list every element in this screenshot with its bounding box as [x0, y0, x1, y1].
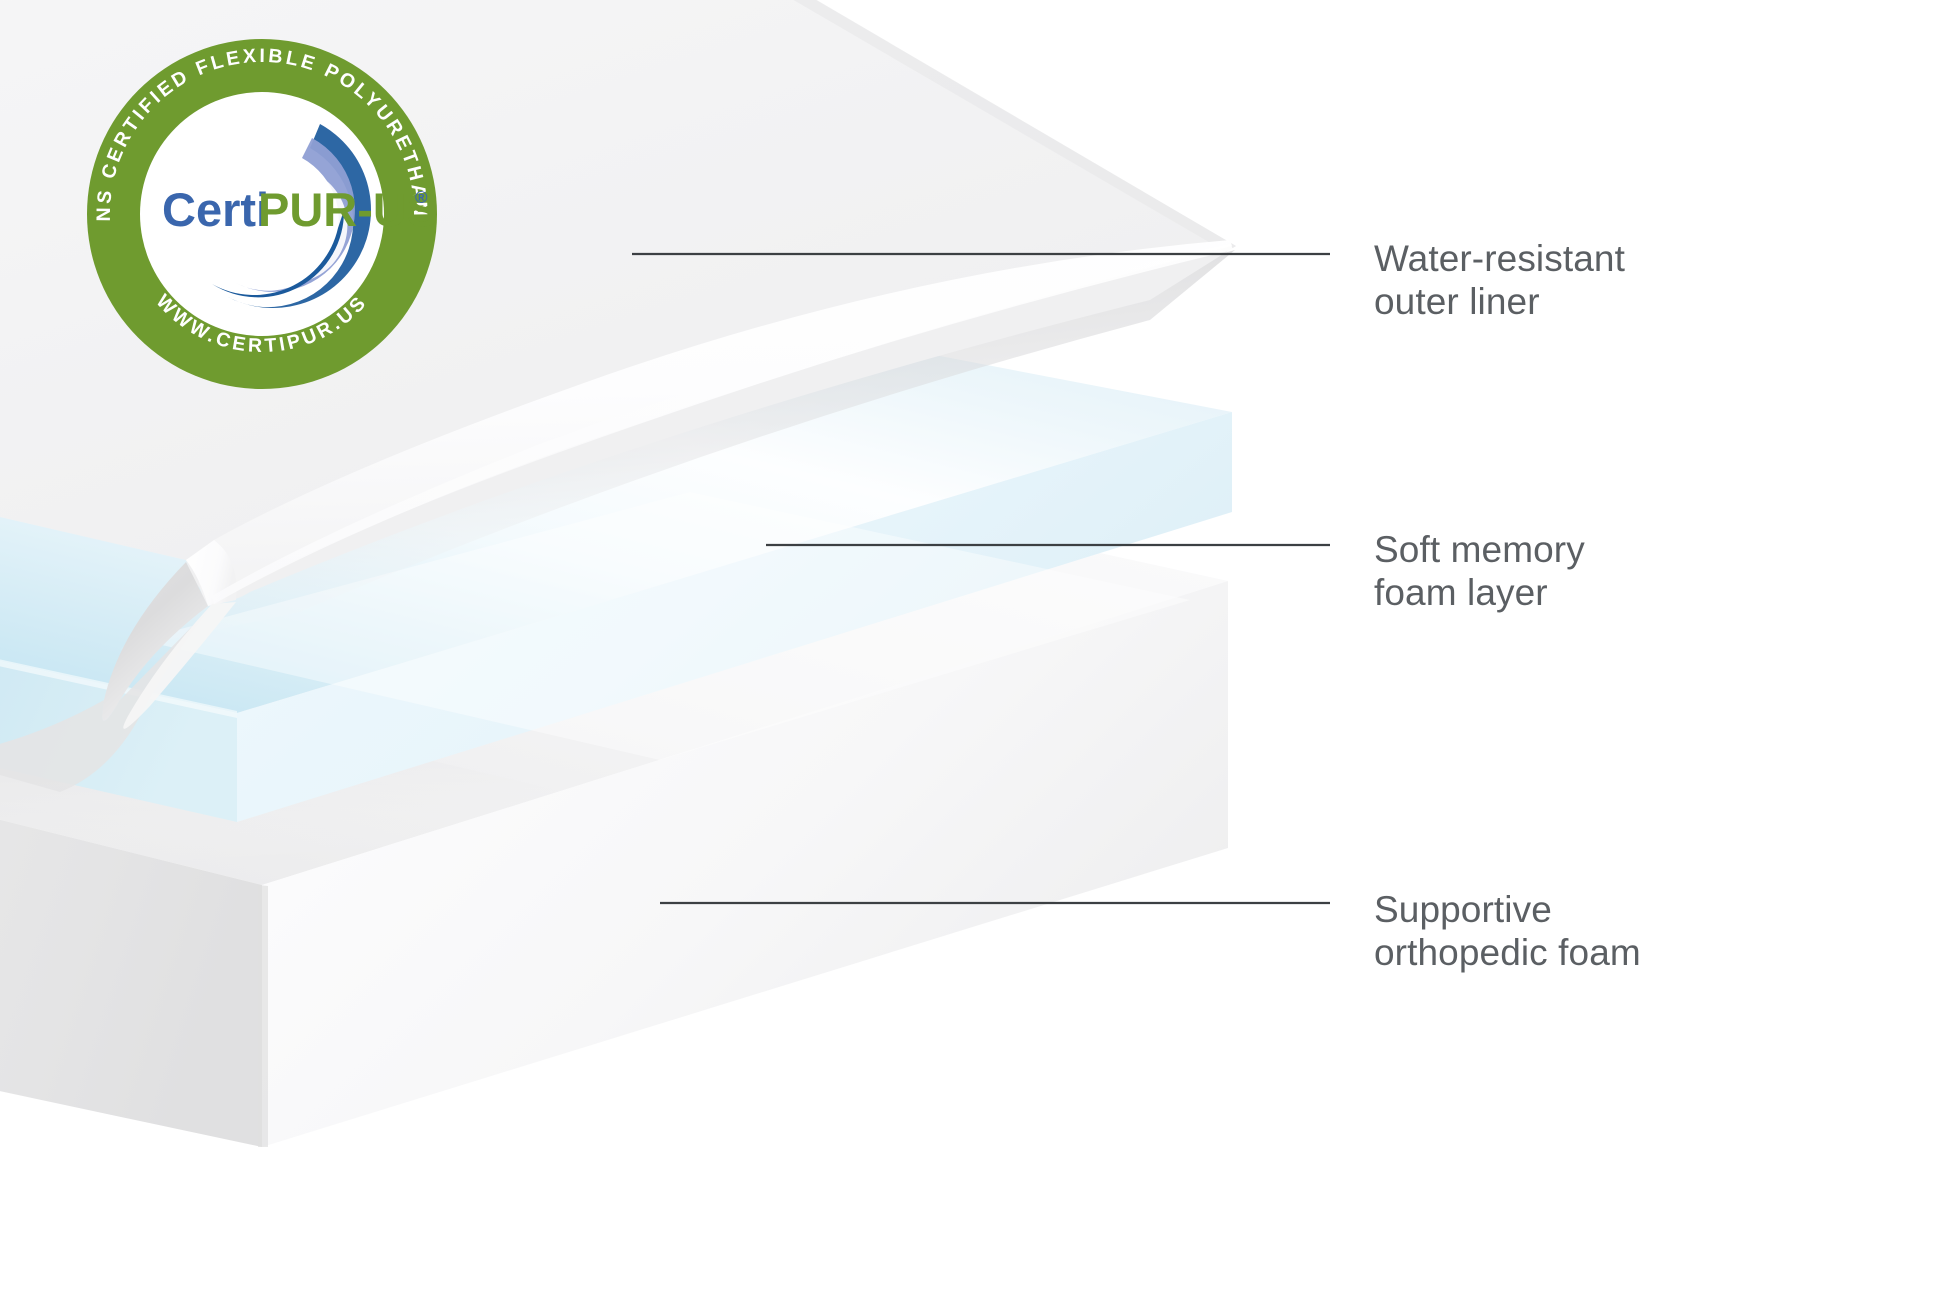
badge-registered-mark: ®: [415, 188, 428, 207]
callout-label-orthopedic-foam: Supportive orthopedic foam: [1374, 888, 1641, 975]
base-front-corner-seam: [258, 885, 268, 1147]
badge-wordmark-pur-us: PUR-US: [258, 183, 438, 236]
certipur-us-badge: CONTAINS CERTIFIED FLEXIBLE POLYURETHANE…: [62, 14, 462, 414]
badge-wordmark: Certi PUR-US ®: [162, 183, 438, 236]
badge-wordmark-certi: Certi: [162, 183, 269, 236]
certipur-us-seal-graphic: CONTAINS CERTIFIED FLEXIBLE POLYURETHANE…: [62, 14, 462, 414]
product-layer-diagram: CONTAINS CERTIFIED FLEXIBLE POLYURETHANE…: [0, 0, 1946, 1298]
callout-label-memory-foam: Soft memory foam layer: [1374, 528, 1585, 615]
callout-label-outer-liner: Water-resistant outer liner: [1374, 237, 1625, 324]
